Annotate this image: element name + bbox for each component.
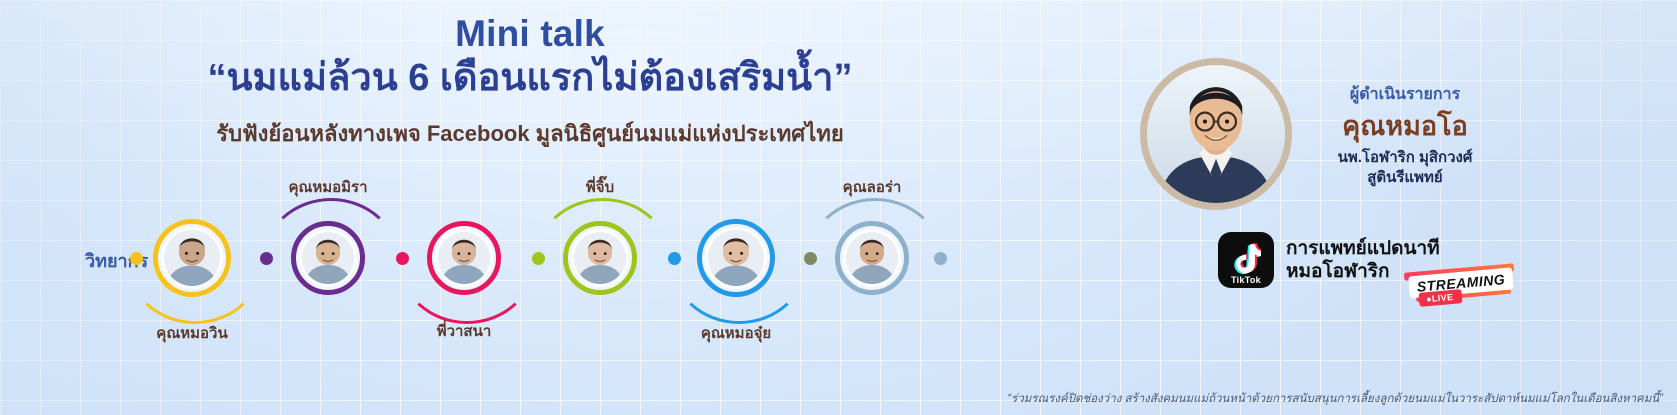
tiktok-note-glyph — [1231, 243, 1261, 277]
speaker-name-label: คุณลอร่า — [792, 175, 952, 199]
speaker-avatar-ring — [835, 221, 909, 295]
speaker-avatar-ring — [697, 219, 775, 297]
headline-block: Mini talk “นมแม่ล้วน 6 เดือนแรกไม่ต้องเส… — [0, 14, 1060, 151]
live-badge: ●LIVE — [1418, 289, 1463, 307]
timeline-node-dot — [130, 252, 143, 265]
timeline-speaker[interactable] — [563, 221, 637, 295]
timeline-speaker[interactable] — [835, 221, 909, 295]
host-portrait-illustration — [1147, 65, 1285, 203]
campaign-tagline: “ร่วมรณรงค์ปิดช่องว่าง สร้างสังคมนมแม่ถ้… — [0, 390, 1663, 408]
host-specialty: สูตินรีแพทย์ — [1300, 168, 1510, 188]
speaker-name-label: คุณหมอวิน — [112, 321, 272, 345]
tiktok-label: TikTok — [1218, 275, 1274, 285]
host-text-block: ผู้ดำเนินรายการ คุณหมอโอ นพ.โอฬาริก มุสิ… — [1300, 82, 1510, 187]
speaker-name-label: พี่จิ๊บ — [520, 175, 680, 199]
speakers-timeline: คุณหมอวินคุณหมอมิราพี่วาสนาพี่จิ๊บคุณหมอ… — [0, 178, 1060, 353]
host-role: ผู้ดำเนินรายการ — [1300, 82, 1510, 107]
channel-name-line1: การแพทย์แปดนาที — [1286, 237, 1440, 260]
speaker-avatar-ring — [427, 221, 501, 295]
speaker-photo — [161, 227, 223, 289]
speaker-avatar-ring — [291, 221, 365, 295]
title-quote: “นมแม่ล้วน 6 เดือนแรกไม่ต้องเสริมน้ำ” — [0, 56, 1060, 102]
subtitle: รับฟังย้อนหลังทางเพจ Facebook มูลนิธิศูน… — [0, 116, 1060, 151]
page-title: Mini talk — [0, 14, 1060, 54]
timeline-speaker[interactable] — [427, 221, 501, 295]
timeline-node-dot — [260, 252, 273, 265]
speaker-photo — [435, 229, 493, 287]
timeline-node-dot — [532, 252, 545, 265]
speaker-photo — [299, 229, 357, 287]
host-photo-image — [1147, 65, 1285, 203]
speaker-name-label: คุณหมอจุ๋ย — [656, 321, 816, 345]
speaker-photo — [843, 229, 901, 287]
timeline-node-dot — [804, 252, 817, 265]
host-avatar — [1140, 58, 1292, 210]
host-name: คุณหมอโอ — [1300, 113, 1510, 140]
tiktok-icon[interactable]: TikTok — [1218, 232, 1274, 288]
speaker-name-label: พี่วาสนา — [384, 319, 544, 343]
timeline-speaker[interactable] — [697, 219, 775, 297]
host-full-name: นพ.โอฬาริก มุสิกวงศ์ — [1300, 148, 1510, 168]
speaker-name-label: คุณหมอมิรา — [248, 175, 408, 199]
timeline-node-dot — [668, 252, 681, 265]
event-banner: Mini talk “นมแม่ล้วน 6 เดือนแรกไม่ต้องเส… — [0, 0, 1677, 415]
speaker-avatar-ring — [563, 221, 637, 295]
timeline-node-dot — [396, 252, 409, 265]
timeline-speaker[interactable] — [291, 221, 365, 295]
timeline-node-dot — [934, 252, 947, 265]
speaker-avatar-ring — [153, 219, 231, 297]
speaker-photo — [571, 229, 629, 287]
timeline-speaker[interactable] — [153, 219, 231, 297]
speaker-photo — [705, 227, 767, 289]
